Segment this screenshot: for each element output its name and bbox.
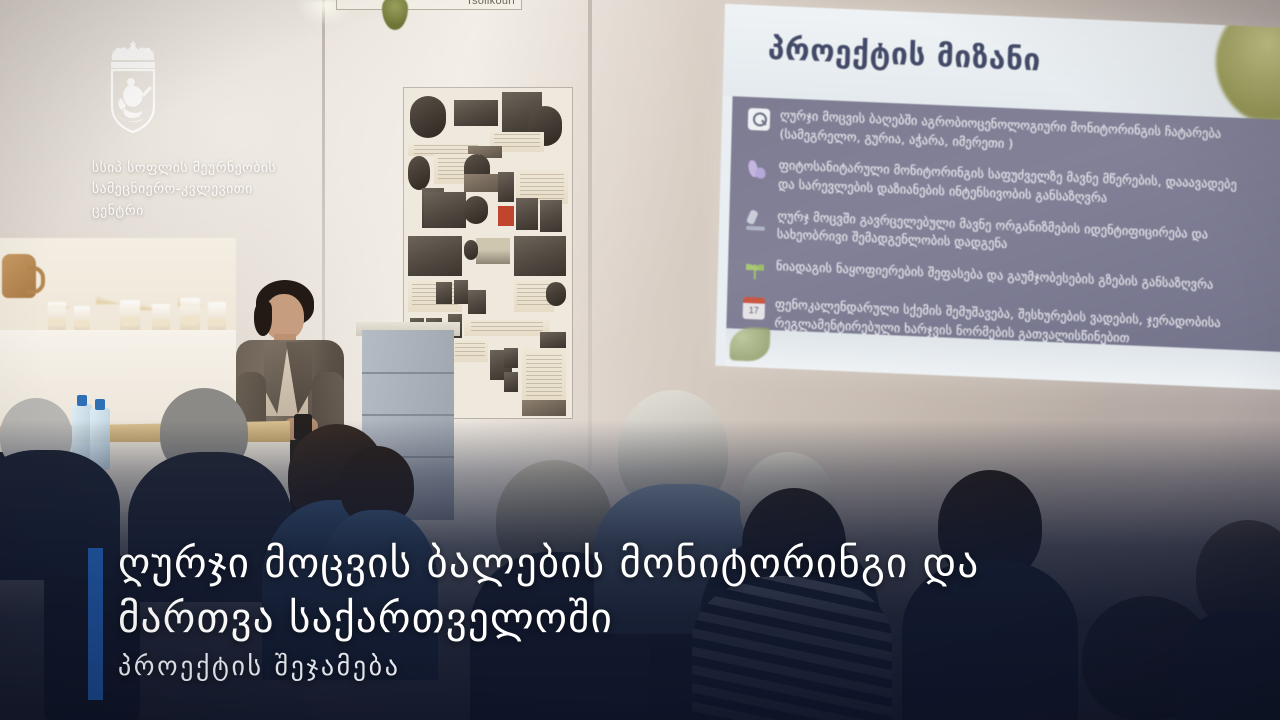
bacteria-icon (746, 158, 769, 181)
lower-third-title-line1: ღურჯი მოცვის ბალების მონიტორინგი და (118, 536, 1118, 591)
wheat-sheaf (50, 250, 94, 308)
wheat-sheaf (140, 258, 180, 310)
projection-screen: პროექტის მიზანი ღურჯი მოცვის ბაღებში აგრ… (701, 0, 1280, 411)
specimen-label-text: Tsolikouri (466, 0, 515, 7)
seedling-icon (744, 259, 767, 282)
lower-third-title: ღურჯი მოცვის ბალების მონიტორინგი და მართ… (118, 536, 1118, 645)
magnifier-icon (748, 108, 771, 131)
specimen-jar (152, 304, 170, 332)
slide-body-panel: ღურჯი მოცვის ბაღებში აგრობიოცენოლოგიური … (726, 96, 1280, 352)
slide-bullet-text: ღურჯი მოცვის ბაღებში აგრობიოცენოლოგიური … (779, 106, 1221, 162)
wall-seam-secondary (588, 0, 592, 470)
specimen-label-frame: Tsolikouri (336, 0, 522, 10)
lower-third-subtitle: პროექტის შეჯამება (118, 652, 401, 682)
georgia-coat-of-arms-icon (102, 36, 164, 136)
grain-display-case (0, 238, 236, 334)
presenter-hair-side (254, 302, 272, 336)
lower-third-accent-bar (88, 548, 103, 700)
microscope-icon (745, 209, 768, 232)
video-frame: Tsolikouri (0, 0, 1280, 720)
slide-bullet: ფიტოსანიტარული მონიტორინგის საფუძველზე მ… (746, 155, 1280, 216)
wheat-sheaf (178, 244, 232, 306)
specimen-jar (208, 302, 226, 332)
specimen-jar (180, 298, 200, 332)
slide-bullet-text: ფიტოსანიტარული მონიტორინგის საფუძველზე მ… (778, 157, 1237, 214)
slide-bullet-list: ღურჯი მოცვის ბაღებში აგრობიოცენოლოგიური … (742, 105, 1280, 368)
slide-bullet-text: ნიადაგის ნაყოფიერების შეფასება და გაუმჯო… (776, 257, 1214, 301)
calendar-icon (743, 297, 766, 320)
clay-pitcher (2, 254, 36, 298)
organization-name: სსიპ სოფლის მეურნეობის სამეცნიერო-კვლევი… (92, 158, 332, 222)
specimen-jar (48, 302, 66, 332)
slide-bullet-text: ღურჯ მოცვში გავრცელებული მავნე ორგანიზმე… (777, 207, 1209, 263)
specimen-jar (120, 300, 140, 332)
slide-bullet: ღურჯ მოცვში გავრცელებული მავნე ორგანიზმე… (745, 206, 1280, 267)
organization-logo: სსიპ სოფლის მეურნეობის სამეცნიერო-კვლევი… (92, 36, 332, 222)
specimen-jar (74, 306, 90, 332)
presentation-slide: პროექტის მიზანი ღურჯი მოცვის ბაღებში აგრ… (715, 4, 1280, 391)
lower-third-title-line2: მართვა საქართველოში (118, 591, 1118, 646)
